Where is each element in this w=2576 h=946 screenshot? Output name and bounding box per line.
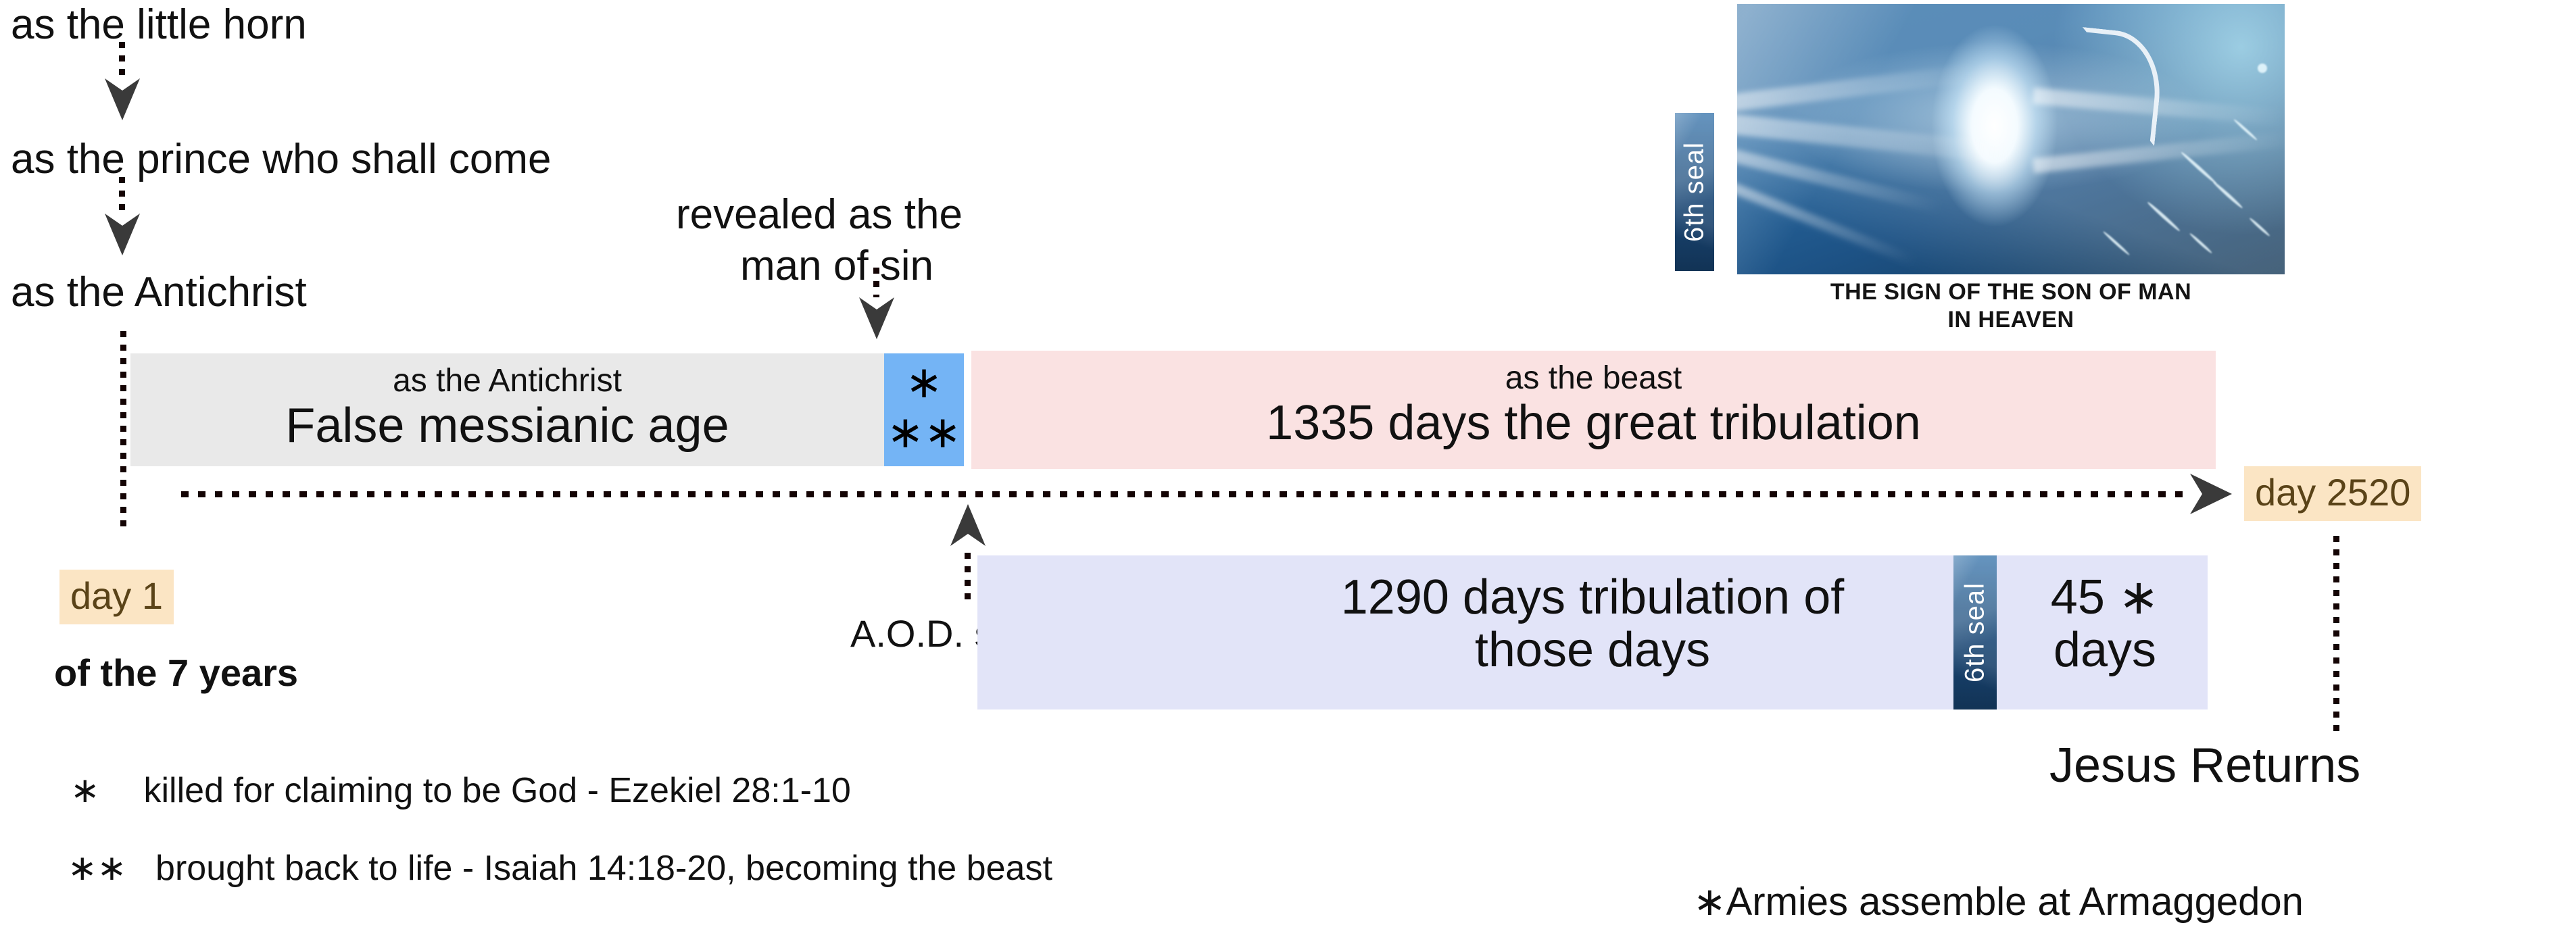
label-of-the-7-years: of the 7 years (54, 651, 298, 695)
bottom-seal-label: 6th seal (1960, 582, 1991, 682)
bottom-seal-strip: 6th seal (1953, 555, 1997, 709)
day2520-guide-dotted (2333, 536, 2339, 732)
footnote-2-text: brought back to life - Isaiah 14:18-20, … (155, 849, 1052, 888)
sign-of-son-of-man-image (1737, 4, 2285, 274)
chip-day-1: day 1 (59, 570, 174, 624)
picture-seal-strip: 6th seal (1675, 113, 1714, 271)
chain-label-little-horn: as the little horn (11, 4, 307, 46)
picture-seal-label: 6th seal (1680, 142, 1710, 242)
bar-pink-sublabel: as the beast (971, 359, 2216, 397)
chain-arrow-down-1 (105, 78, 140, 120)
revealed-connector-dotted (873, 268, 879, 300)
footnote-1-text: killed for claiming to be God - Ezekiel … (143, 771, 850, 810)
bar-marker-revealed: ∗ ∗∗ (884, 353, 964, 466)
aod-arrow-up (950, 504, 986, 546)
bar-gray-mainlabel: False messianic age (130, 398, 884, 453)
chain-connector-dotted-2 (119, 177, 125, 219)
bar-pink-mainlabel: 1335 days the great tribulation (971, 395, 2216, 451)
footnote-2: ∗∗ brought back to life - Isaiah 14:18-2… (68, 848, 1052, 889)
bar-gray-sublabel: as the Antichrist (130, 362, 884, 399)
chip-day-2520: day 2520 (2244, 466, 2421, 521)
footnote-1: ∗ killed for claiming to be God - Ezekie… (70, 770, 851, 811)
bar-45-days: 45 ∗ days (2002, 555, 2208, 709)
picture-caption-line1: THE SIGN OF THE SON OF MAN (1737, 278, 2285, 306)
note-armageddon: ∗Armies assemble at Armaggedon (1693, 878, 2304, 924)
chain-label-prince: as the prince who shall come (11, 139, 552, 180)
chain-connector-dotted-1 (119, 42, 125, 84)
bar-45-days-line2: days (2002, 624, 2208, 677)
footnote-1-marker: ∗ (70, 771, 100, 810)
marker-star-single: ∗ (884, 356, 964, 408)
marker-star-double: ∗∗ (884, 406, 964, 458)
footnote-2-marker: ∗∗ (68, 849, 126, 888)
bar-false-messianic-age: as the Antichrist False messianic age (130, 353, 884, 466)
chain-label-antichrist: as the Antichrist (11, 272, 307, 314)
aod-guide-dotted (965, 553, 971, 607)
revealed-arrow-down (859, 297, 894, 339)
timeline-axis-dotted (181, 491, 2209, 497)
bar-45-days-label: 45 ∗ days (2002, 572, 2208, 677)
bar-45-days-line1: 45 ∗ (2002, 572, 2208, 624)
picture-caption-line2: IN HEAVEN (1737, 306, 2285, 334)
day1-guide-dotted (120, 331, 126, 527)
picture-caption: THE SIGN OF THE SON OF MAN IN HEAVEN (1737, 278, 2285, 334)
timeline-axis-arrowhead (2190, 474, 2232, 514)
annotation-revealed-line2: man of sin (740, 242, 933, 290)
chain-arrow-down-2 (105, 214, 140, 255)
label-jesus-returns: Jesus Returns (2049, 738, 2360, 793)
annotation-revealed-line1: revealed as the (676, 191, 963, 239)
bar-great-tribulation: as the beast 1335 days the great tribula… (971, 351, 2216, 469)
